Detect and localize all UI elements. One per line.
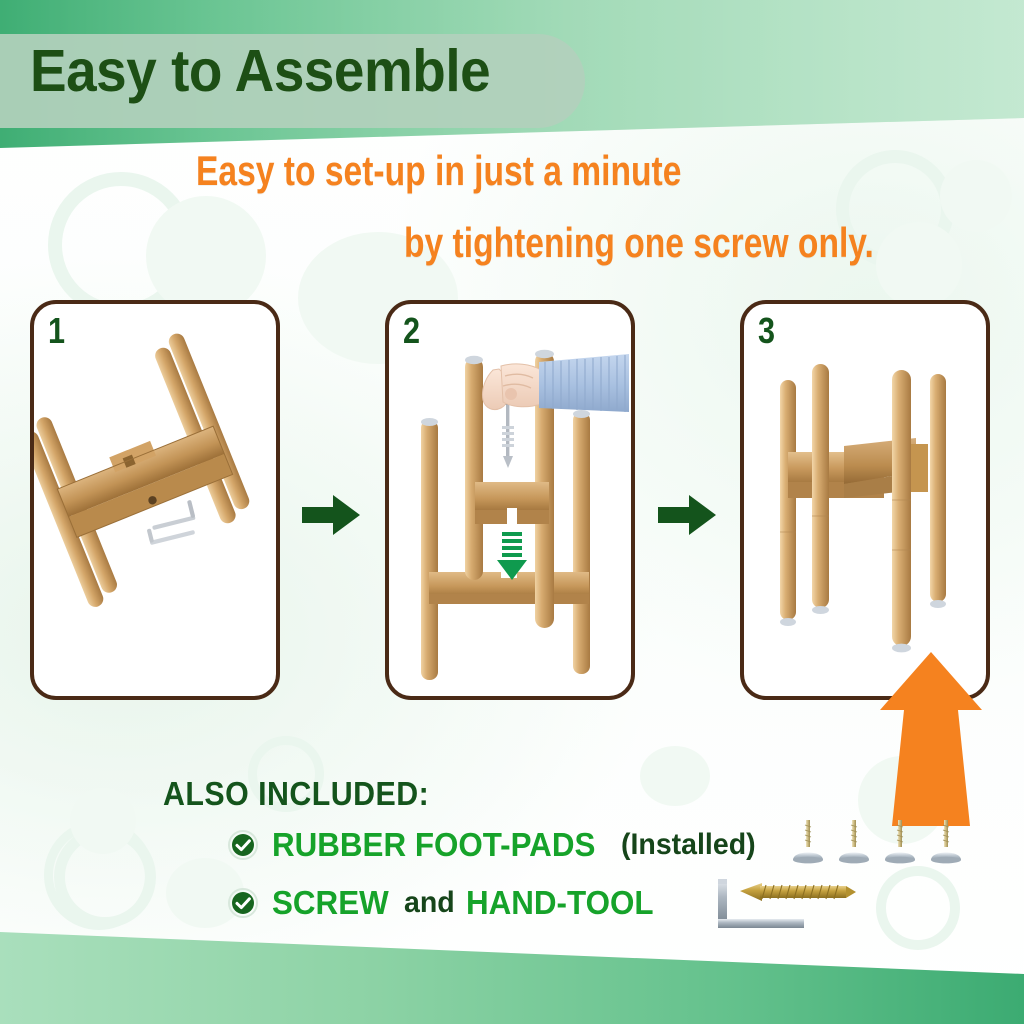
- item-2-conjunction: and: [404, 886, 455, 920]
- check-circle-icon: [228, 888, 258, 918]
- step-number-3: 3: [758, 310, 775, 352]
- step-card-2[interactable]: 2: [385, 300, 635, 700]
- decor-disc: [876, 222, 962, 308]
- hand-illustration: [482, 364, 541, 410]
- sleeve-illustration: [539, 354, 629, 412]
- decor-disc: [940, 160, 1012, 232]
- step-card-1[interactable]: 1: [30, 300, 280, 700]
- decor-disc: [640, 746, 710, 806]
- also-included-heading: ALSO INCLUDED:: [163, 775, 429, 813]
- hex-key-and-screw-picture: [712, 875, 872, 937]
- subtitle-line-2: by tightening one screw only.: [404, 222, 874, 264]
- also-included-item-1: RUBBER FOOT-PADS (Installed): [228, 826, 763, 864]
- item-2-label-2: HAND-TOOL: [466, 884, 654, 922]
- arrow-right-icon-2: [656, 492, 718, 538]
- item-1-note: (Installed): [621, 828, 756, 862]
- step-2-illustration: [389, 304, 631, 696]
- step-number-1: 1: [48, 310, 65, 352]
- page-title: Easy to Assemble: [30, 42, 490, 101]
- subtitle-line-1: Easy to set-up in just a minute: [196, 150, 681, 192]
- decor-disc: [70, 788, 136, 854]
- step-number-2: 2: [403, 310, 420, 352]
- decor-ring: [876, 866, 960, 950]
- arrow-right-icon-1: [300, 492, 362, 538]
- also-included-item-2: SCREW and HAND-TOOL: [228, 884, 664, 922]
- rubber-foot-pads-picture: [790, 820, 990, 868]
- step-3-illustration: [744, 304, 986, 696]
- decor-disc: [146, 196, 266, 316]
- item-1-label: RUBBER FOOT-PADS: [272, 826, 595, 864]
- step-card-3[interactable]: 3: [740, 300, 990, 700]
- check-circle-icon: [228, 830, 258, 860]
- infographic-canvas: Easy to Assemble Easy to set-up in just …: [0, 0, 1024, 1024]
- arrow-up-icon-highlight: [872, 648, 990, 833]
- step-1-illustration: [34, 304, 276, 696]
- screw-icon: [489, 401, 514, 468]
- item-2-label: SCREW: [272, 884, 389, 922]
